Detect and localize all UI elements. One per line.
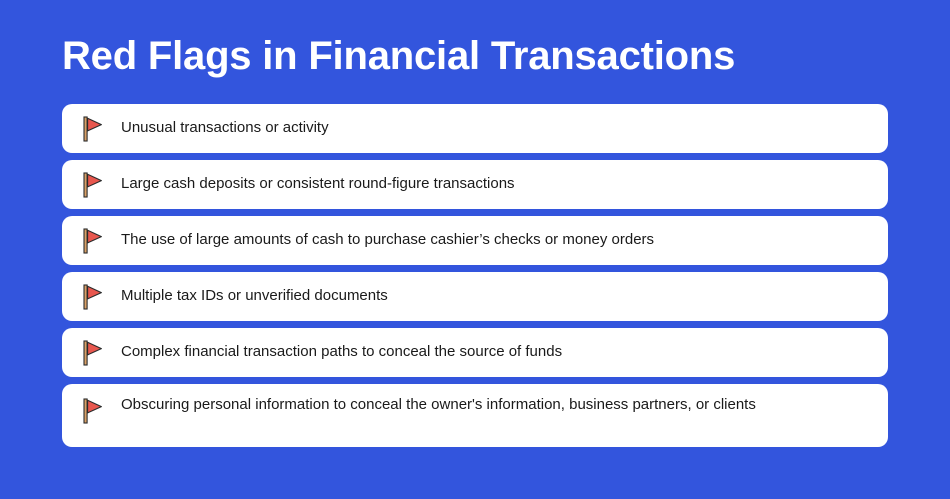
red-flag-list: Unusual transactions or activityLarge ca… (62, 104, 888, 447)
red-flag-icon (81, 228, 105, 254)
red-flag-icon (81, 340, 105, 366)
list-item[interactable]: Unusual transactions or activity (62, 104, 888, 153)
red-flag-icon (81, 398, 105, 424)
list-item[interactable]: Large cash deposits or consistent round-… (62, 160, 888, 209)
page-title: Red Flags in Financial Transactions (62, 32, 892, 80)
red-flag-icon (81, 172, 105, 198)
list-item[interactable]: Complex financial transaction paths to c… (62, 328, 888, 377)
list-item-label: Multiple tax IDs or unverified documents (105, 285, 888, 307)
list-item[interactable]: The use of large amounts of cash to purc… (62, 216, 888, 265)
red-flag-icon (81, 284, 105, 310)
list-item-label: Large cash deposits or consistent round-… (105, 173, 888, 195)
red-flag-icon (81, 116, 105, 142)
list-item-label: The use of large amounts of cash to purc… (105, 229, 888, 251)
list-item[interactable]: Multiple tax IDs or unverified documents (62, 272, 888, 321)
poster-canvas: Red Flags in Financial Transactions Unus… (0, 0, 950, 499)
list-item-label: Obscuring personal information to concea… (105, 394, 845, 416)
list-item-label: Complex financial transaction paths to c… (105, 341, 888, 363)
list-item-label: Unusual transactions or activity (105, 117, 888, 139)
list-item[interactable]: Obscuring personal information to concea… (62, 384, 888, 447)
